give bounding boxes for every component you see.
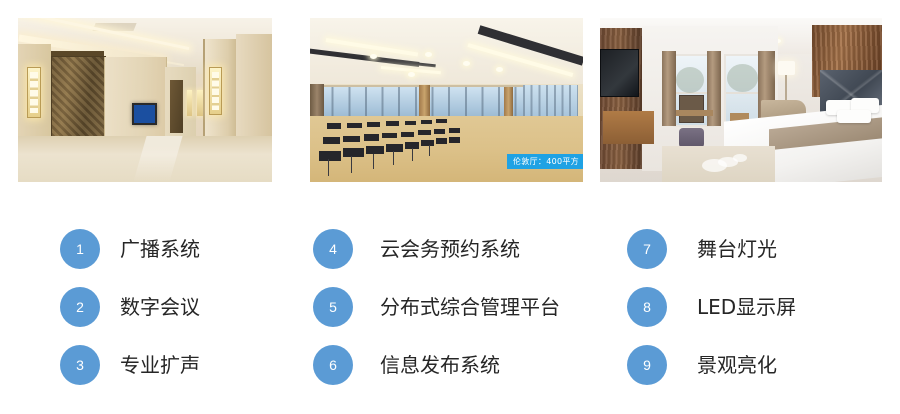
item-number-badge: 4 — [313, 229, 353, 269]
chair-leg — [373, 154, 374, 169]
chair — [382, 133, 397, 139]
chair — [418, 130, 431, 135]
item-number-badge: 9 — [627, 345, 667, 385]
downlight-4 — [496, 67, 503, 72]
chair — [347, 123, 362, 129]
chair — [366, 146, 385, 154]
ottoman — [679, 128, 704, 148]
pillow-3 — [837, 110, 871, 123]
item-number-badge: 5 — [313, 287, 353, 327]
wall-sconce-left — [27, 67, 42, 118]
right-windows — [523, 85, 578, 118]
item-number-badge: 1 — [60, 229, 100, 269]
wall-sconce-far-2 — [197, 90, 203, 116]
floor-lamp-shade — [778, 61, 795, 76]
item-number-badge: 3 — [60, 345, 100, 385]
chair — [323, 137, 340, 144]
item-label: 云会务预约系统 — [380, 236, 520, 262]
chair-rows — [315, 108, 501, 177]
item-label: 专业扩声 — [120, 352, 200, 378]
photo-2-scene: 伦敦厅：400平方 — [310, 18, 583, 182]
chair — [386, 121, 399, 126]
chair — [343, 136, 360, 142]
chair-leg — [351, 156, 352, 173]
chair — [401, 132, 414, 138]
chair-leg — [412, 148, 413, 160]
chair — [449, 128, 460, 133]
chair — [367, 122, 380, 127]
chair — [405, 121, 416, 126]
item-label: LED显示屏 — [697, 294, 796, 320]
item-number-badge: 8 — [627, 287, 667, 327]
item-label: 信息发布系统 — [380, 352, 500, 378]
chair — [319, 151, 341, 161]
wall-sconce-far-1 — [187, 90, 193, 116]
chair — [436, 138, 447, 144]
photo-3-scene — [600, 18, 882, 182]
item-number-badge: 2 — [60, 287, 100, 327]
wall-sconce-column — [209, 67, 222, 115]
chair — [343, 148, 363, 157]
wood-pillar-2 — [504, 87, 514, 120]
wall-display-panel — [132, 103, 156, 125]
item-label: 数字会议 — [120, 294, 200, 320]
photo-1-scene — [18, 18, 272, 182]
tree-foliage-2 — [727, 64, 758, 92]
item-number-badge: 6 — [313, 345, 353, 385]
wall-mounted-tv — [600, 49, 639, 97]
item-label: 景观亮化 — [697, 352, 777, 378]
chair — [327, 123, 342, 129]
distant-lift-doors — [170, 80, 183, 132]
item-label: 广播系统 — [120, 236, 200, 262]
room-caption-badge: 伦敦厅：400平方 — [507, 154, 583, 169]
photo-hotel-guest-room — [600, 18, 882, 182]
photo-conference-hall: 伦敦厅：400平方 — [310, 18, 583, 182]
chair-leg — [429, 145, 430, 156]
chair — [449, 137, 460, 143]
chair — [421, 120, 432, 124]
chair-leg — [328, 159, 329, 176]
downlight-3 — [463, 61, 470, 66]
chair-leg — [393, 151, 394, 165]
slide-canvas: 伦敦厅：400平方 — [0, 0, 900, 414]
chair — [434, 129, 445, 134]
photo-hotel-lift-lobby — [18, 18, 272, 182]
credenza — [603, 111, 654, 144]
item-number-badge: 7 — [627, 229, 667, 269]
item-label: 舞台灯光 — [697, 236, 777, 262]
chair — [364, 134, 379, 140]
chair — [436, 119, 447, 123]
item-label: 分布式综合管理平台 — [380, 294, 560, 320]
desk — [676, 110, 713, 117]
curtain-left — [662, 51, 676, 126]
